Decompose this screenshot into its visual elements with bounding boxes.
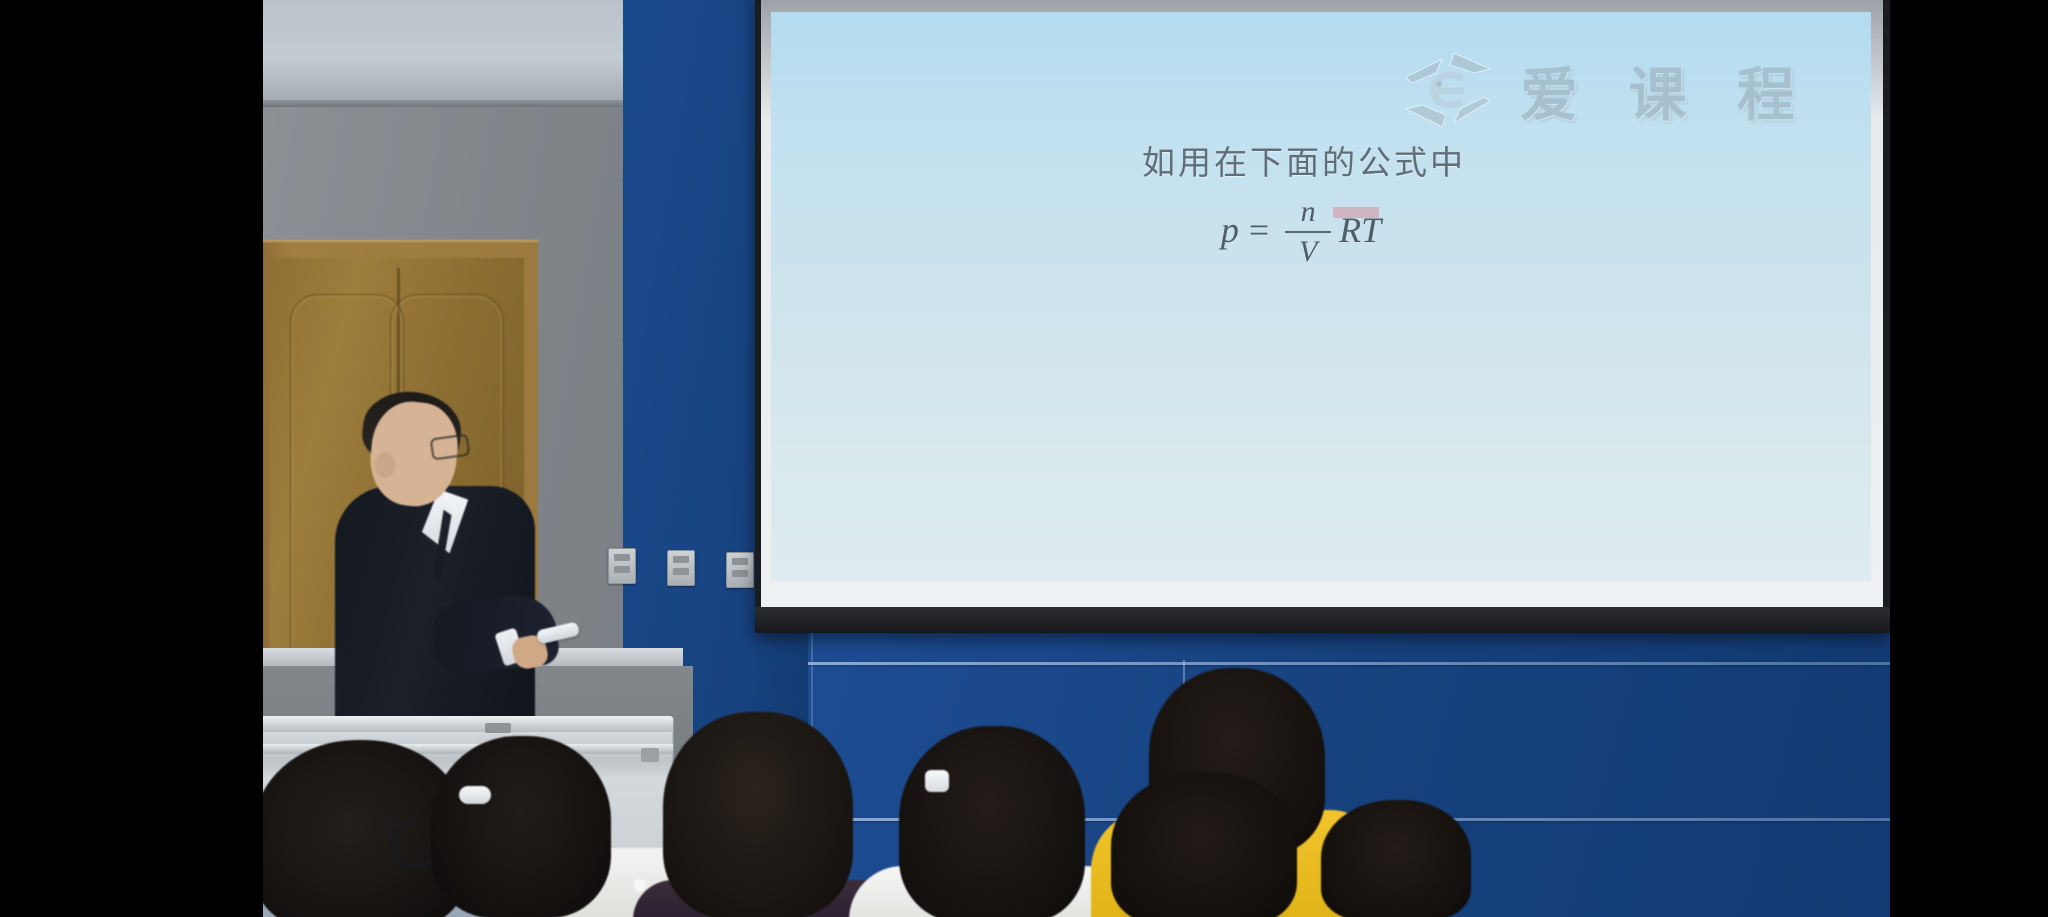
podium-latch: [641, 748, 659, 762]
icourse-brand-text: 爱 课 程: [1520, 48, 1813, 132]
formula-denominator: V: [1299, 236, 1317, 268]
formula-fraction-bar: [1285, 231, 1331, 233]
icourse-diamond-e-logo: [1402, 51, 1494, 129]
screen-bezel: 爱 课 程 如用在下面的公式中 p = n V RT: [761, 0, 1883, 609]
podium-latch: [485, 723, 511, 733]
slide-surface: 爱 课 程 如用在下面的公式中 p = n V RT: [771, 12, 1871, 581]
wall-seam: [623, 662, 1890, 665]
video-frame-stage: 爱 课 程 如用在下面的公式中 p = n V RT: [0, 0, 2048, 917]
letterbox-bar-right: [1890, 0, 2048, 917]
icourse-branding: 爱 课 程: [1402, 48, 1813, 132]
formula-numerator: n: [1301, 196, 1316, 228]
slide-heading: 如用在下面的公式中: [771, 136, 1871, 184]
letterbox-bar-left: [0, 0, 263, 917]
student-4-hair-clip: [925, 770, 949, 792]
formula-rhs: RT: [1339, 209, 1381, 251]
student-3-hair: [663, 712, 853, 917]
student-2-hair: [431, 736, 611, 917]
wall-socket-icon: [667, 550, 695, 586]
video-content: 爱 课 程 如用在下面的公式中 p = n V RT: [263, 0, 1890, 917]
student-2-hair-clip: [459, 786, 491, 804]
teacher-ear: [375, 452, 395, 478]
student-6-hair: [1111, 772, 1297, 917]
projection-screen[interactable]: 爱 课 程 如用在下面的公式中 p = n V RT: [755, 0, 1890, 633]
slide-formula: p = n V RT: [771, 194, 1871, 265]
screen-bottom-rail: [755, 607, 1890, 633]
student-4-hair: [899, 726, 1085, 917]
podium-top-edge: [263, 716, 673, 732]
student-7-hair: [1321, 800, 1471, 917]
wall-socket-icon: [726, 552, 754, 588]
wall-socket-icon: [608, 548, 636, 584]
formula-lhs: p: [1221, 209, 1239, 251]
formula-fraction: n V: [1285, 196, 1331, 267]
formula-equals: =: [1249, 209, 1269, 251]
